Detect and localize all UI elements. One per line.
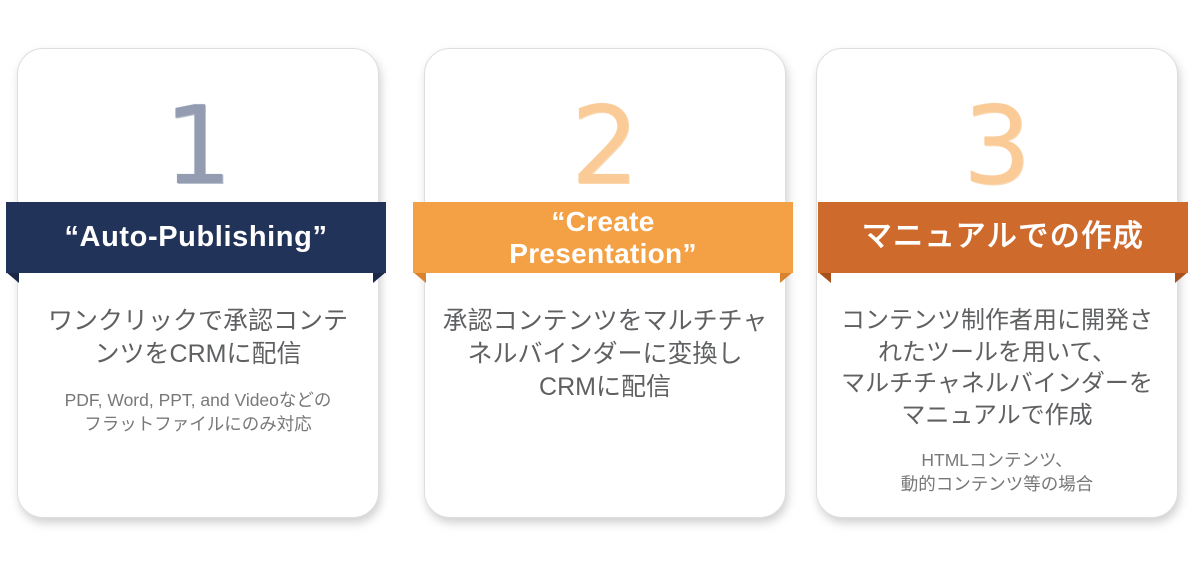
step-card-2[interactable]: 2 “Create Presentation” 承認コンテンツをマルチチャ ネル… (424, 48, 786, 518)
banner-fold-right-icon (1175, 272, 1188, 283)
step-description-3: コンテンツ制作者用に開発さ れたツールを用いて、 マルチチャネルバインダーを マ… (831, 305, 1163, 432)
banner-body-3: マニュアルでの作成 (818, 202, 1188, 273)
step-note-3: HTMLコンテンツ、 動的コンテンツ等の場合 (831, 448, 1163, 496)
step-number-3: 3 (817, 93, 1177, 201)
step-description-2: 承認コンテンツをマルチチャ ネルバインダーに変換し CRMに配信 (439, 305, 771, 404)
banner-fold-left-icon (818, 272, 831, 283)
step-number-2: 2 (425, 93, 785, 201)
step-number-1: 1 (18, 93, 378, 201)
banner-fold-left-icon (6, 272, 19, 283)
banner-fold-left-icon (413, 272, 426, 283)
banner-fold-right-icon (780, 272, 793, 283)
banner-label-1: “Auto-Publishing” (64, 221, 327, 254)
banner-fold-right-icon (373, 272, 386, 283)
banner-body-2: “Create Presentation” (413, 202, 793, 273)
step-note-1: PDF, Word, PPT, and Videoなどの フラットファイルにのみ… (32, 388, 364, 436)
step-card-3[interactable]: 3 マニュアルでの作成 コンテンツ制作者用に開発さ れたツールを用いて、 マルチ… (816, 48, 1178, 518)
banner-body-1: “Auto-Publishing” (6, 202, 386, 273)
step-card-1[interactable]: 1 “Auto-Publishing” ワンクリックで承認コンテ ンツをCRMに… (17, 48, 379, 518)
slide-canvas: 1 “Auto-Publishing” ワンクリックで承認コンテ ンツをCRMに… (0, 0, 1200, 571)
banner-label-3: マニュアルでの作成 (862, 220, 1145, 254)
step-content-1: ワンクリックで承認コンテ ンツをCRMに配信 PDF, Word, PPT, a… (32, 305, 364, 436)
step-banner-3: マニュアルでの作成 (818, 202, 1188, 273)
step-content-2: 承認コンテンツをマルチチャ ネルバインダーに変換し CRMに配信 (439, 305, 771, 421)
banner-label-2: “Create Presentation” (509, 206, 697, 270)
step-banner-2: “Create Presentation” (413, 202, 793, 273)
step-description-1: ワンクリックで承認コンテ ンツをCRMに配信 (32, 305, 364, 371)
step-banner-1: “Auto-Publishing” (6, 202, 386, 273)
step-content-3: コンテンツ制作者用に開発さ れたツールを用いて、 マルチチャネルバインダーを マ… (831, 305, 1163, 496)
